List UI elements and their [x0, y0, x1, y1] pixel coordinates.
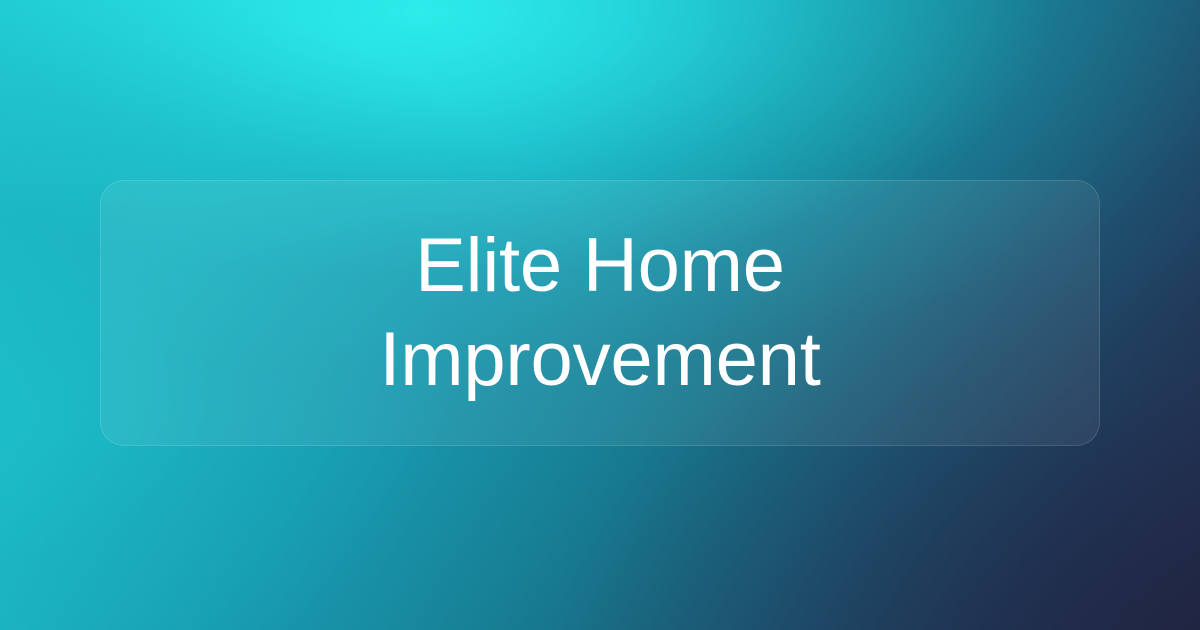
page-title: Elite Home Improvement [101, 219, 1099, 407]
og-image-canvas: Elite Home Improvement [0, 0, 1200, 630]
title-card: Elite Home Improvement [100, 180, 1100, 446]
